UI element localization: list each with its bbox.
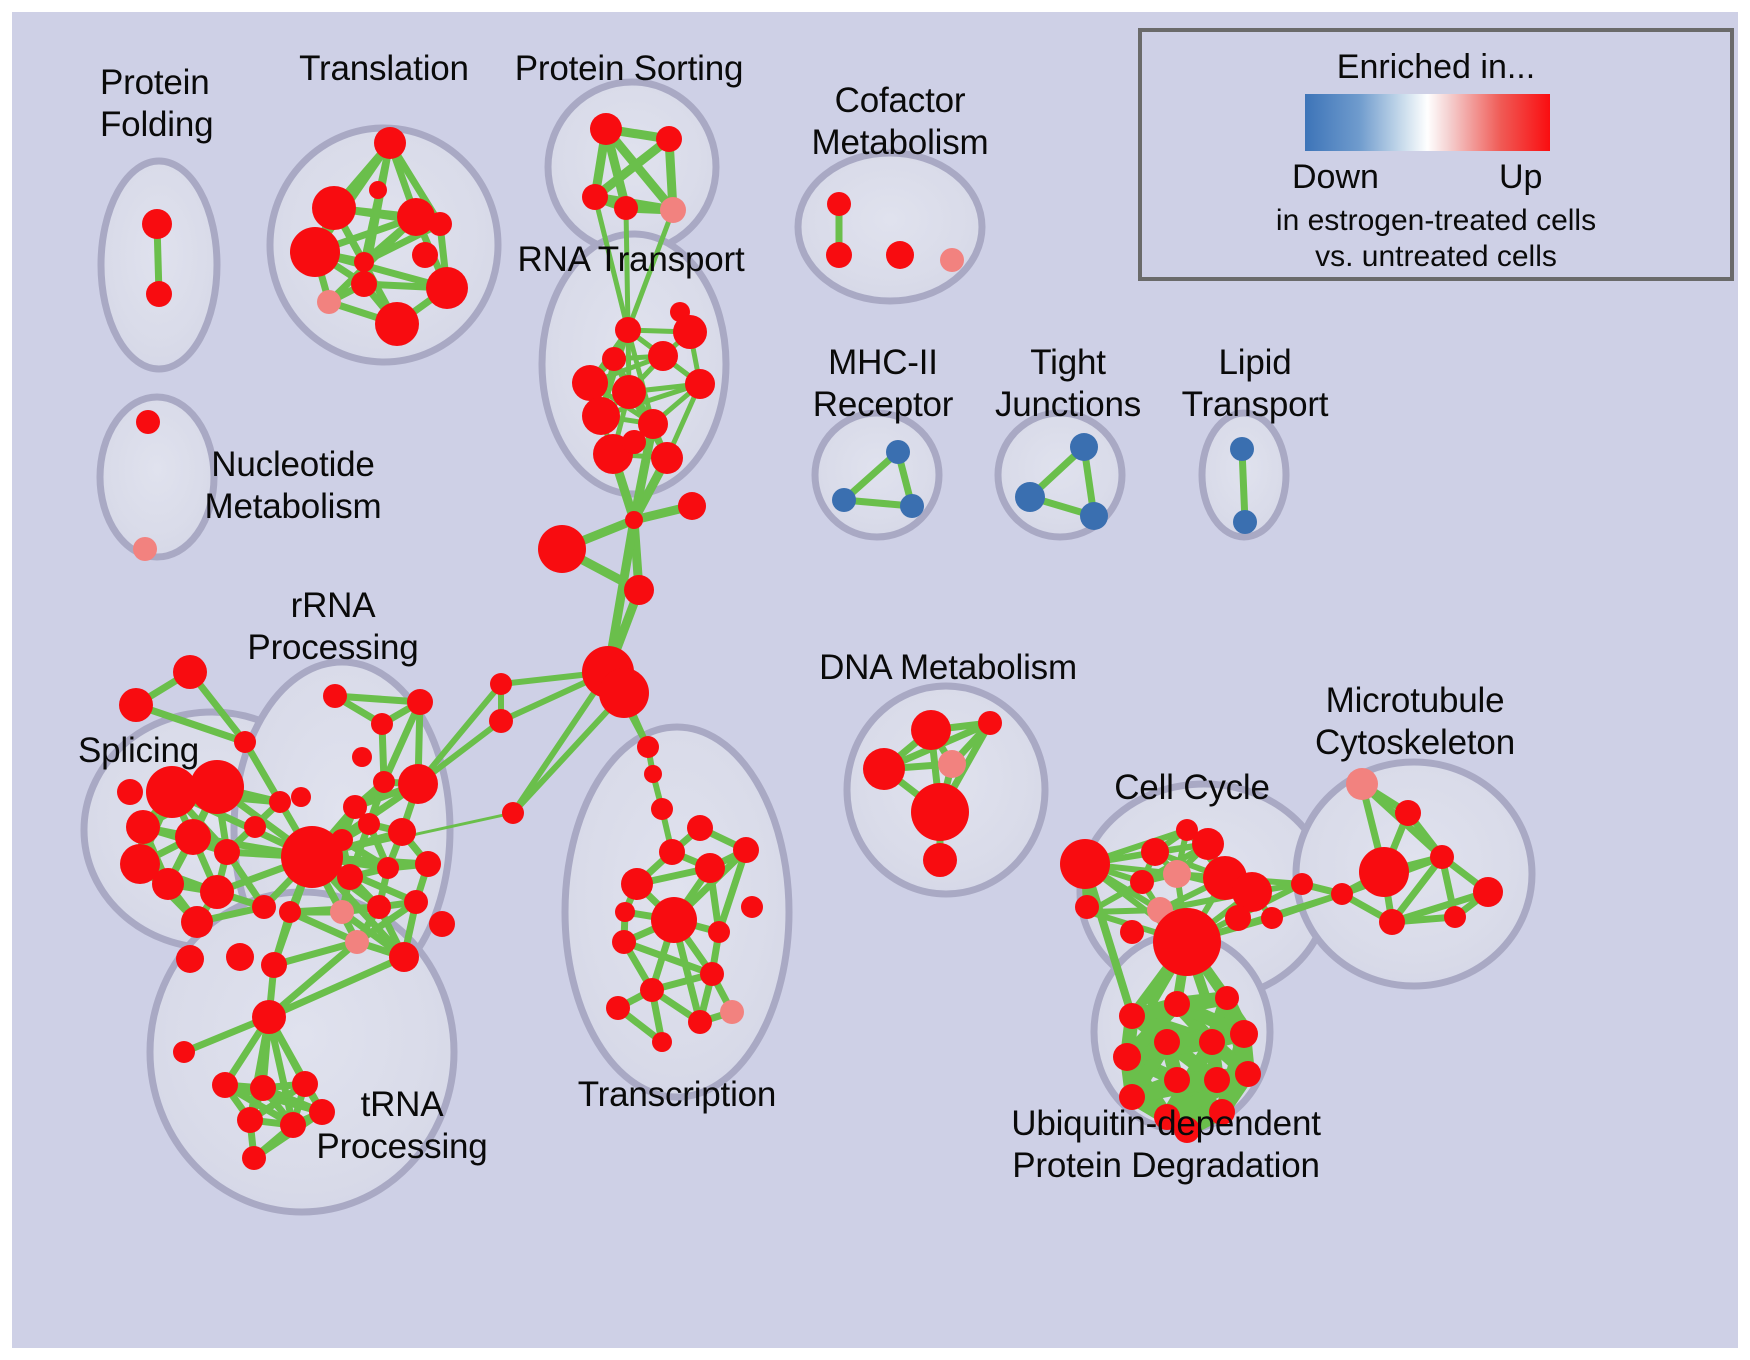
legend-title: Enriched in... [1142,48,1730,87]
cluster-label-protein-folding: ProteinFolding [100,62,213,146]
figure-root: ProteinFolding Translation Protein Sorti… [0,0,1750,1360]
cluster-label-mhc-ii-receptor: MHC-IIReceptor [813,342,953,426]
network-canvas: ProteinFolding Translation Protein Sorti… [12,12,1738,1348]
legend-box: Enriched in... Down Up in estrogen-treat… [1138,28,1734,281]
cluster-label-rrna-processing: rRNAProcessing [247,585,418,669]
cluster-label-splicing: Splicing [78,730,199,772]
legend-subtitle-line-2: vs. untreated cells [1142,240,1730,274]
cluster-label-transcription: Transcription [578,1074,776,1116]
cluster-label-translation: Translation [299,48,469,90]
cluster-label-protein-sorting: Protein Sorting [515,48,744,90]
legend-subtitle-line-1: in estrogen-treated cells [1142,204,1730,238]
legend-color-gradient [1305,94,1550,151]
cluster-label-tight-junctions: TightJunctions [995,342,1141,426]
legend-up-label: Up [1499,158,1542,197]
cluster-label-rna-transport: RNA Transport [518,239,745,281]
cluster-label-cofactor-metabolism: CofactorMetabolism [812,80,989,164]
cluster-label-trna-processing: tRNAProcessing [316,1084,487,1168]
cluster-label-ubiquitin-degradation: Ubiquitin-dependentProtein Degradation [1011,1103,1321,1187]
cluster-label-microtubule-cytoskeleton: MicrotubuleCytoskeleton [1315,680,1515,764]
cluster-label-cell-cycle: Cell Cycle [1114,767,1270,809]
cluster-label-lipid-transport: LipidTransport [1182,342,1329,426]
cluster-label-nucleotide-metabolism: NucleotideMetabolism [205,444,382,528]
cluster-label-dna-metabolism: DNA Metabolism [819,647,1077,689]
legend-down-label: Down [1292,158,1379,197]
